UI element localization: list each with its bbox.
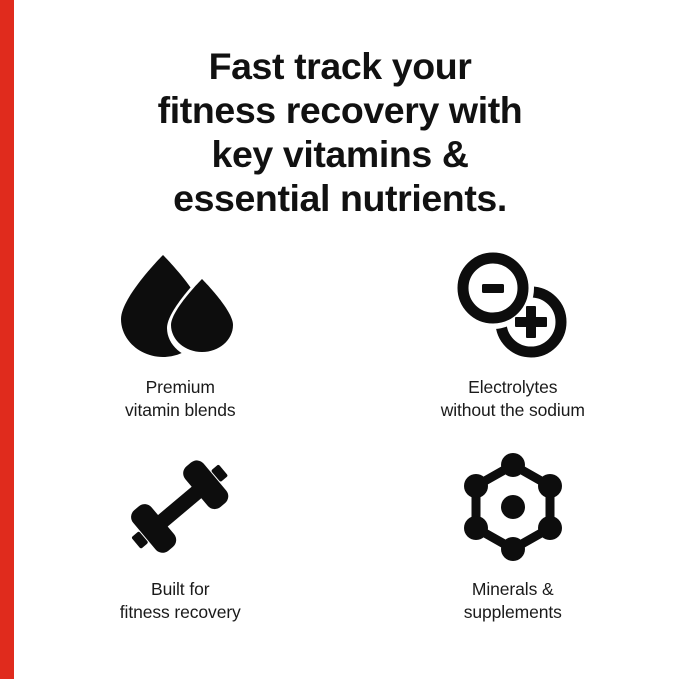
molecule-hexagon-icon xyxy=(443,446,583,568)
feature-caption-minerals-supplements: Minerals & supplements xyxy=(464,578,562,624)
left-red-accent-stripe xyxy=(0,0,14,679)
headline-line-3: key vitamins & xyxy=(40,132,640,176)
headline-line-1: Fast track your xyxy=(40,44,640,88)
infographic-panel: Fast track your fitness recovery with ke… xyxy=(0,0,679,679)
caption-line-1: Built for xyxy=(120,578,241,601)
water-drops-icon xyxy=(110,246,250,366)
feature-item-vitamin-blends: Premium vitamin blends xyxy=(14,246,347,446)
caption-line-1: Electrolytes xyxy=(441,376,585,399)
caption-line-2: fitness recovery xyxy=(120,601,241,624)
page-title: Fast track your fitness recovery with ke… xyxy=(40,44,640,220)
feature-item-electrolytes: Electrolytes without the sodium xyxy=(347,246,679,446)
headline-line-2: fitness recovery with xyxy=(40,88,640,132)
dumbbell-icon xyxy=(110,446,250,568)
feature-caption-fitness-recovery: Built for fitness recovery xyxy=(120,578,241,624)
feature-grid: Premium vitamin blends xyxy=(14,246,679,646)
caption-line-2: vitamin blends xyxy=(125,399,235,422)
feature-item-fitness-recovery: Built for fitness recovery xyxy=(14,446,347,646)
feature-caption-electrolytes: Electrolytes without the sodium xyxy=(441,376,585,422)
feature-caption-vitamin-blends: Premium vitamin blends xyxy=(125,376,235,422)
plus-minus-circles-icon xyxy=(443,246,583,366)
caption-line-1: Minerals & xyxy=(464,578,562,601)
caption-line-2: without the sodium xyxy=(441,399,585,422)
caption-line-2: supplements xyxy=(464,601,562,624)
feature-item-minerals-supplements: Minerals & supplements xyxy=(347,446,679,646)
headline-line-4: essential nutrients. xyxy=(40,176,640,220)
caption-line-1: Premium xyxy=(125,376,235,399)
